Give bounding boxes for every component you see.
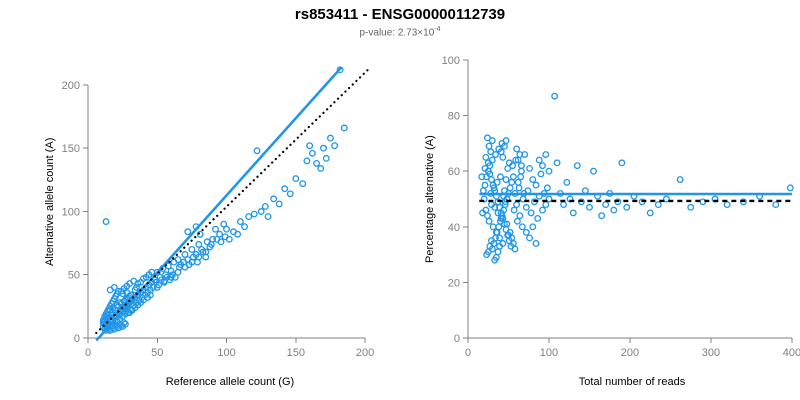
- scatter-point: [538, 171, 544, 177]
- scatter-point: [103, 219, 109, 225]
- scatter-point: [511, 207, 517, 213]
- scatter-point: [341, 125, 347, 131]
- scatter-point: [583, 188, 589, 194]
- scatter-point: [287, 191, 293, 197]
- scatter-point: [495, 249, 501, 255]
- scatter-point: [282, 186, 288, 192]
- scatter-point: [519, 168, 525, 174]
- scatter-point: [564, 180, 570, 186]
- y-tick-label: 0: [454, 333, 460, 345]
- scatter-point: [545, 185, 551, 191]
- scatter-point: [543, 152, 549, 158]
- scatter-point: [318, 166, 324, 172]
- scatter-point: [486, 218, 492, 224]
- plot-data-layer: [479, 93, 793, 263]
- scatter-point: [515, 180, 521, 186]
- scatter-point: [489, 177, 495, 183]
- scatter-point: [554, 160, 560, 166]
- scatter-point: [546, 168, 552, 174]
- scatter-point: [224, 226, 230, 232]
- scatter-point: [265, 214, 271, 220]
- scatter-point: [656, 202, 662, 208]
- scatter-point: [788, 185, 794, 191]
- scatter-point: [512, 246, 518, 252]
- reference-1to1-line: [96, 69, 369, 333]
- scatter-point: [307, 143, 313, 149]
- scatter-point: [300, 181, 306, 187]
- x-tick-label: 200: [356, 347, 374, 359]
- scatter-point: [490, 224, 496, 230]
- scatter-point: [561, 202, 567, 208]
- y-tick-label: 0: [74, 333, 80, 345]
- scatter-point: [482, 182, 488, 188]
- scatter-point: [527, 235, 533, 241]
- scatter-point: [519, 163, 525, 169]
- scatter-point: [213, 226, 219, 232]
- scatter-point: [314, 161, 320, 167]
- scatter-point: [535, 216, 541, 222]
- scatter-plot-allele-counts: 050100150200050100150200: [0, 0, 400, 400]
- scatter-point: [517, 213, 523, 219]
- y-tick-label: 100: [62, 206, 80, 218]
- scatter-point: [530, 224, 536, 230]
- scatter-point: [293, 176, 299, 182]
- x-axis-label-right: Total number of reads: [482, 376, 782, 388]
- scatter-point: [310, 150, 316, 156]
- x-tick-label: 400: [783, 347, 800, 359]
- x-axis-label-left: Reference allele count (G): [80, 376, 380, 388]
- y-axis-label-left: Alternative allele count (A): [44, 138, 56, 266]
- y-tick-label: 20: [448, 277, 460, 289]
- scatter-point: [511, 174, 517, 180]
- x-tick-label: 50: [151, 347, 163, 359]
- y-tick-label: 150: [62, 143, 80, 155]
- scatter-point: [611, 207, 617, 213]
- scatter-point: [496, 224, 502, 230]
- scatter-point: [575, 163, 581, 169]
- scatter-point: [519, 224, 525, 230]
- scatter-point: [524, 230, 530, 236]
- x-tick-label: 100: [540, 347, 558, 359]
- scatter-point: [321, 145, 327, 151]
- scatter-point: [304, 158, 310, 164]
- y-tick-label: 200: [62, 80, 80, 92]
- scatter-point: [773, 202, 779, 208]
- scatter-point: [647, 210, 653, 216]
- scatter-point: [518, 174, 524, 180]
- scatter-point: [254, 148, 260, 154]
- x-tick-label: 150: [287, 347, 305, 359]
- scatter-point: [251, 211, 257, 217]
- scatter-point: [587, 205, 593, 211]
- scatter-point: [591, 168, 597, 174]
- scatter-point: [271, 196, 277, 202]
- y-axis-label-right: Percentage alternative (A): [424, 135, 436, 263]
- plot-data-layer: [96, 67, 369, 341]
- scatter-point: [624, 205, 630, 211]
- scatter-point: [540, 163, 546, 169]
- y-tick-label: 100: [442, 55, 460, 67]
- scatter-point: [481, 188, 487, 194]
- scatter-point: [619, 160, 625, 166]
- scatter-point: [514, 202, 520, 208]
- scatter-point: [677, 177, 683, 183]
- scatter-point: [503, 177, 509, 183]
- scatter-plot-percentage-alternative: 0204060801000100200300400: [400, 0, 800, 400]
- panel-percentage-alternative: 0204060801000100200300400 Total number o…: [400, 0, 800, 400]
- scatter-point: [258, 209, 264, 215]
- scatter-point: [238, 219, 244, 225]
- scatter-point: [514, 146, 520, 152]
- scatter-point: [533, 241, 539, 247]
- scatter-point: [509, 180, 515, 186]
- x-tick-label: 100: [217, 347, 235, 359]
- scatter-point: [189, 247, 195, 253]
- scatter-point: [503, 138, 509, 144]
- scatter-point: [488, 149, 494, 155]
- x-tick-label: 0: [465, 347, 471, 359]
- y-tick-label: 50: [68, 270, 80, 282]
- scatter-point: [552, 93, 558, 99]
- figure-root: rs853411 - ENSG00000112739 p-value: 2.73…: [0, 0, 800, 400]
- scatter-point: [500, 155, 506, 161]
- scatter-point: [525, 188, 531, 194]
- scatter-point: [483, 155, 489, 161]
- scatter-point: [515, 218, 521, 224]
- y-tick-label: 40: [448, 222, 460, 234]
- scatter-point: [246, 214, 252, 220]
- scatter-point: [263, 204, 269, 210]
- y-tick-label: 80: [448, 111, 460, 123]
- scatter-point: [276, 201, 282, 207]
- scatter-point: [242, 224, 248, 230]
- scatter-point: [528, 210, 534, 216]
- regression-line: [96, 67, 341, 340]
- scatter-point: [603, 202, 609, 208]
- x-tick-label: 0: [85, 347, 91, 359]
- scatter-point: [486, 143, 492, 149]
- panel-allele-counts: 050100150200050100150200 Reference allel…: [0, 0, 400, 400]
- y-tick-label: 60: [448, 166, 460, 178]
- scatter-point: [540, 207, 546, 213]
- scatter-point: [516, 185, 522, 191]
- scatter-point: [724, 202, 730, 208]
- scatter-point: [530, 177, 536, 183]
- scatter-point: [490, 138, 496, 144]
- scatter-point: [543, 202, 549, 208]
- x-tick-label: 300: [702, 347, 720, 359]
- scatter-point: [332, 143, 338, 149]
- scatter-point: [498, 174, 504, 180]
- scatter-point: [507, 185, 513, 191]
- scatter-point: [527, 166, 533, 172]
- x-tick-label: 200: [621, 347, 639, 359]
- scatter-point: [185, 229, 191, 235]
- scatter-point: [599, 213, 605, 219]
- scatter-point: [536, 157, 542, 163]
- scatter-point: [524, 205, 530, 211]
- scatter-point: [570, 210, 576, 216]
- scatter-point: [328, 135, 334, 141]
- scatter-point: [533, 182, 539, 188]
- scatter-point: [688, 205, 694, 211]
- scatter-point: [323, 156, 329, 162]
